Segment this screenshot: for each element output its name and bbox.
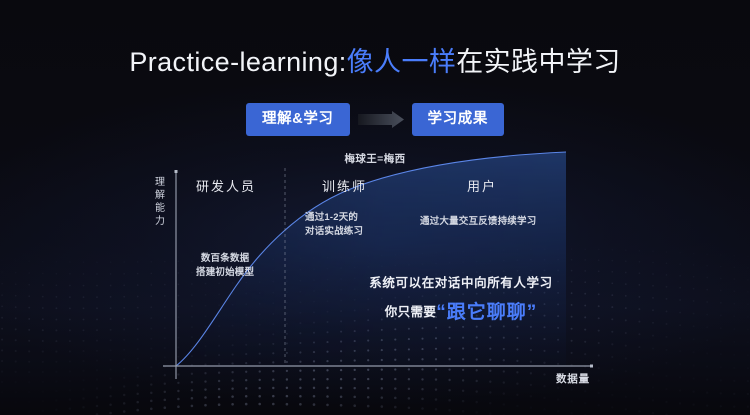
callout-line-2-prefix: 你只需要 xyxy=(385,305,437,319)
note-developer-line2: 搭建初始模型 xyxy=(196,266,254,280)
arrow-right-icon xyxy=(358,111,404,128)
title-accent: 像人一样 xyxy=(347,47,457,77)
note-trainer-line2: 对话实战练习 xyxy=(305,225,363,239)
callout-line-2-quoted: “跟它聊聊” xyxy=(436,302,537,323)
note-developer-line1: 数百条数据 xyxy=(196,252,254,266)
slide-root: Practice-learning:像人一样在实践中学习 理解&学习 学习成果 … xyxy=(0,0,750,415)
column-heading-user: 用户 xyxy=(467,176,497,195)
y-axis-label: 理解能力 xyxy=(152,176,168,228)
column-heading-developer: 研发人员 xyxy=(196,176,256,195)
page-title: Practice-learning:像人一样在实践中学习 xyxy=(0,40,750,79)
note-user: 通过大量交互反馈持续学习 xyxy=(420,215,536,229)
note-trainer: 通过1-2天的 对话实战练习 xyxy=(305,211,363,239)
column-heading-trainer: 训练师 xyxy=(322,176,367,195)
x-axis-label: 数据量 xyxy=(556,371,590,386)
title-prefix: Practice-learning: xyxy=(129,47,346,77)
flow-diagram: 理解&学习 学习成果 xyxy=(0,103,750,136)
callout-line-2: 你只需要“跟它聊聊” xyxy=(336,297,586,324)
flow-step-understand-learn[interactable]: 理解&学习 xyxy=(246,103,349,136)
flow-caption: 梅球王=梅西 xyxy=(0,151,750,166)
note-trainer-line1: 通过1-2天的 xyxy=(305,211,363,225)
flow-step-learning-result[interactable]: 学习成果 xyxy=(412,103,504,136)
callout-block: 系统可以在对话中向所有人学习 你只需要“跟它聊聊” xyxy=(336,272,586,324)
callout-line-1: 系统可以在对话中向所有人学习 xyxy=(336,272,586,291)
title-suffix: 在实践中学习 xyxy=(456,47,620,77)
note-developer: 数百条数据 搭建初始模型 xyxy=(196,252,254,280)
